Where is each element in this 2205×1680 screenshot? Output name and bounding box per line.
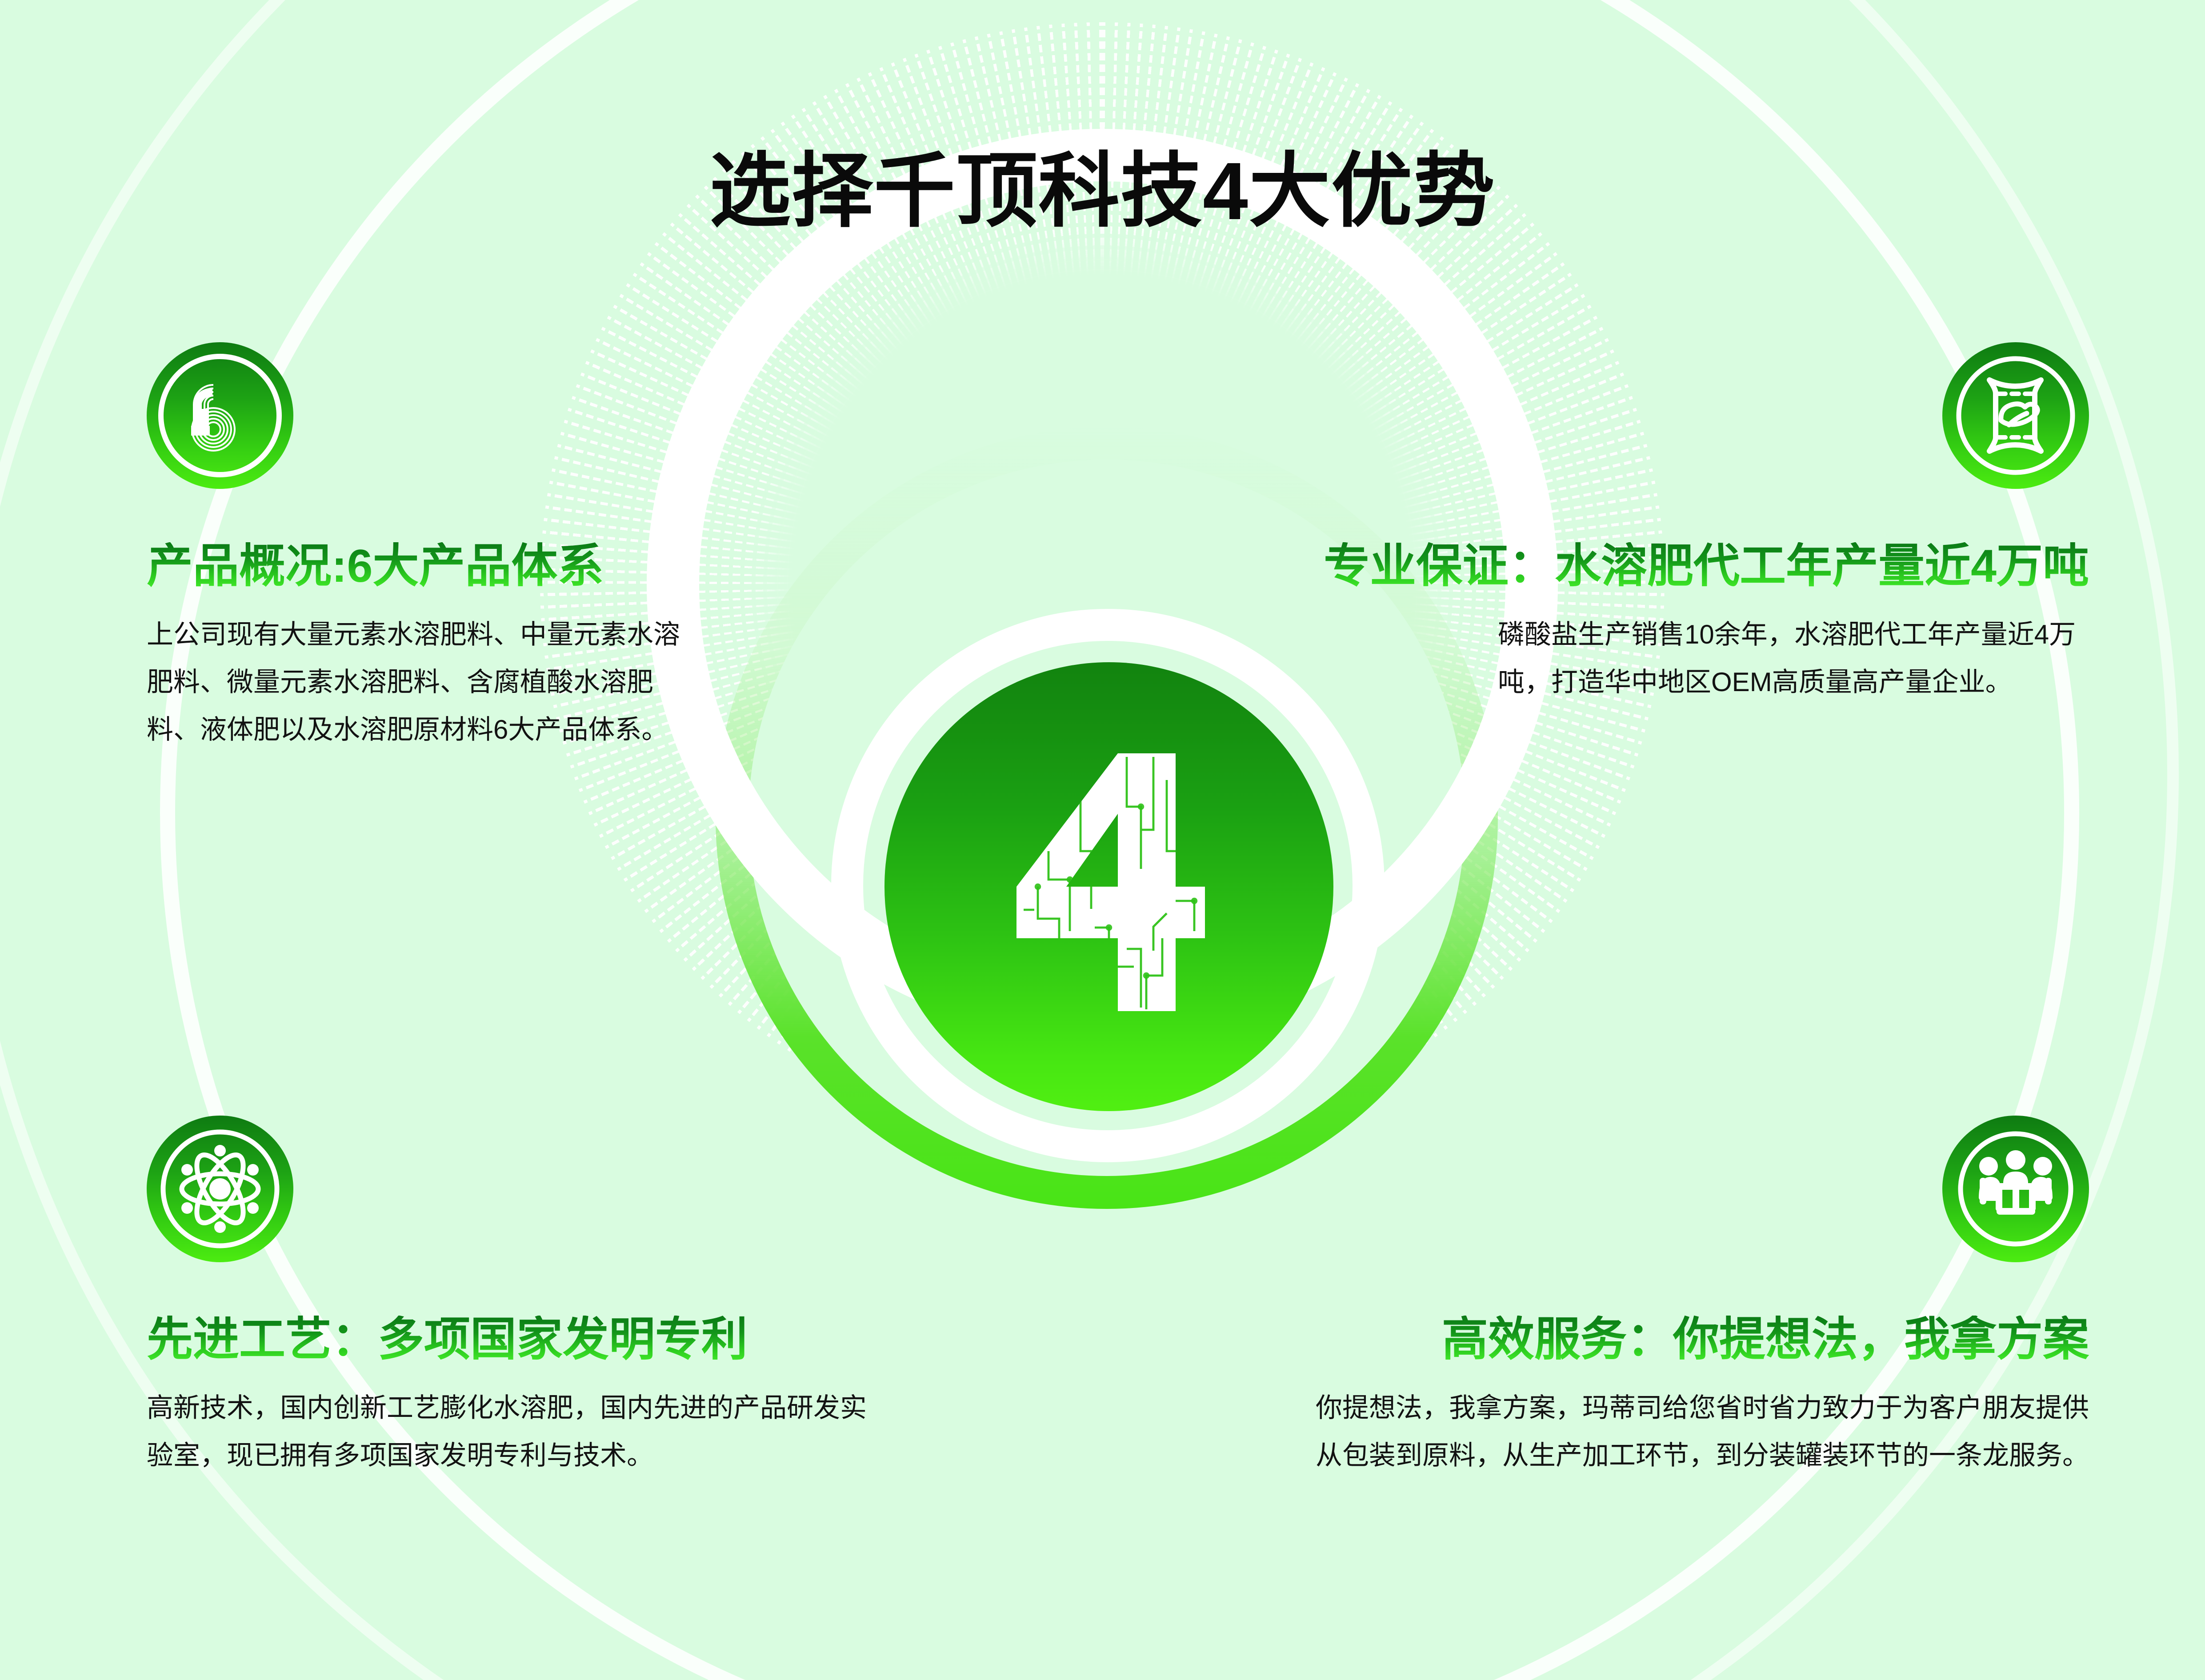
center-number-disc: [884, 662, 1333, 1111]
card-heading: 高效服务：你提想法，我拿方案: [1316, 1316, 2089, 1364]
page-title: 选择千顶科技4大优势: [0, 150, 2205, 232]
card-body: 磷酸盐生产销售10余年，水溶肥代工年产量近4万吨，打造华中地区OEM高质量高产量…: [1498, 611, 2089, 706]
advantage-card-advanced-process: 先进工艺：多项国家发明专利 高新技术，国内创新工艺膨化水溶肥，国内先进的产品研发…: [147, 1116, 902, 1480]
atom-icon: [147, 1116, 293, 1262]
advantage-card-product-overview: 产品概况:6大产品体系 上公司现有大量元素水溶肥料、中量元素水溶肥料、微量元素水…: [147, 342, 720, 754]
advantage-card-efficient-service: 高效服务：你提想法，我拿方案 你提想法，我拿方案，玛蒂司给您省时省力致力于为客户…: [1316, 1116, 2089, 1480]
infographic-canvas: 选择千顶科技4大优势: [0, 0, 2205, 1680]
card-heading: 专业保证：水溶肥代工年产量近4万吨: [1200, 542, 2089, 591]
circuit-number-4-icon: [984, 744, 1233, 1029]
card-body: 高新技术，国内创新工艺膨化水溶肥，国内先进的产品研发实验室，现已拥有多项国家发明…: [147, 1384, 884, 1480]
card-heading: 产品概况:6大产品体系: [147, 542, 720, 591]
card-body: 你提想法，我拿方案，玛蒂司给您省时省力致力于为客户朋友提供从包装到原料，从生产加…: [1316, 1384, 2089, 1480]
advantage-card-professional-guarantee: 专业保证：水溶肥代工年产量近4万吨 磷酸盐生产销售10余年，水溶肥代工年产量近4…: [1200, 342, 2089, 706]
number-six-spiral-icon: [147, 342, 293, 489]
fertilizer-bag-icon: [1942, 342, 2089, 489]
meeting-table-people-icon: [1942, 1116, 2089, 1262]
card-heading: 先进工艺：多项国家发明专利: [147, 1316, 902, 1364]
card-body: 上公司现有大量元素水溶肥料、中量元素水溶肥料、微量元素水溶肥料、含腐植酸水溶肥料…: [147, 611, 698, 753]
